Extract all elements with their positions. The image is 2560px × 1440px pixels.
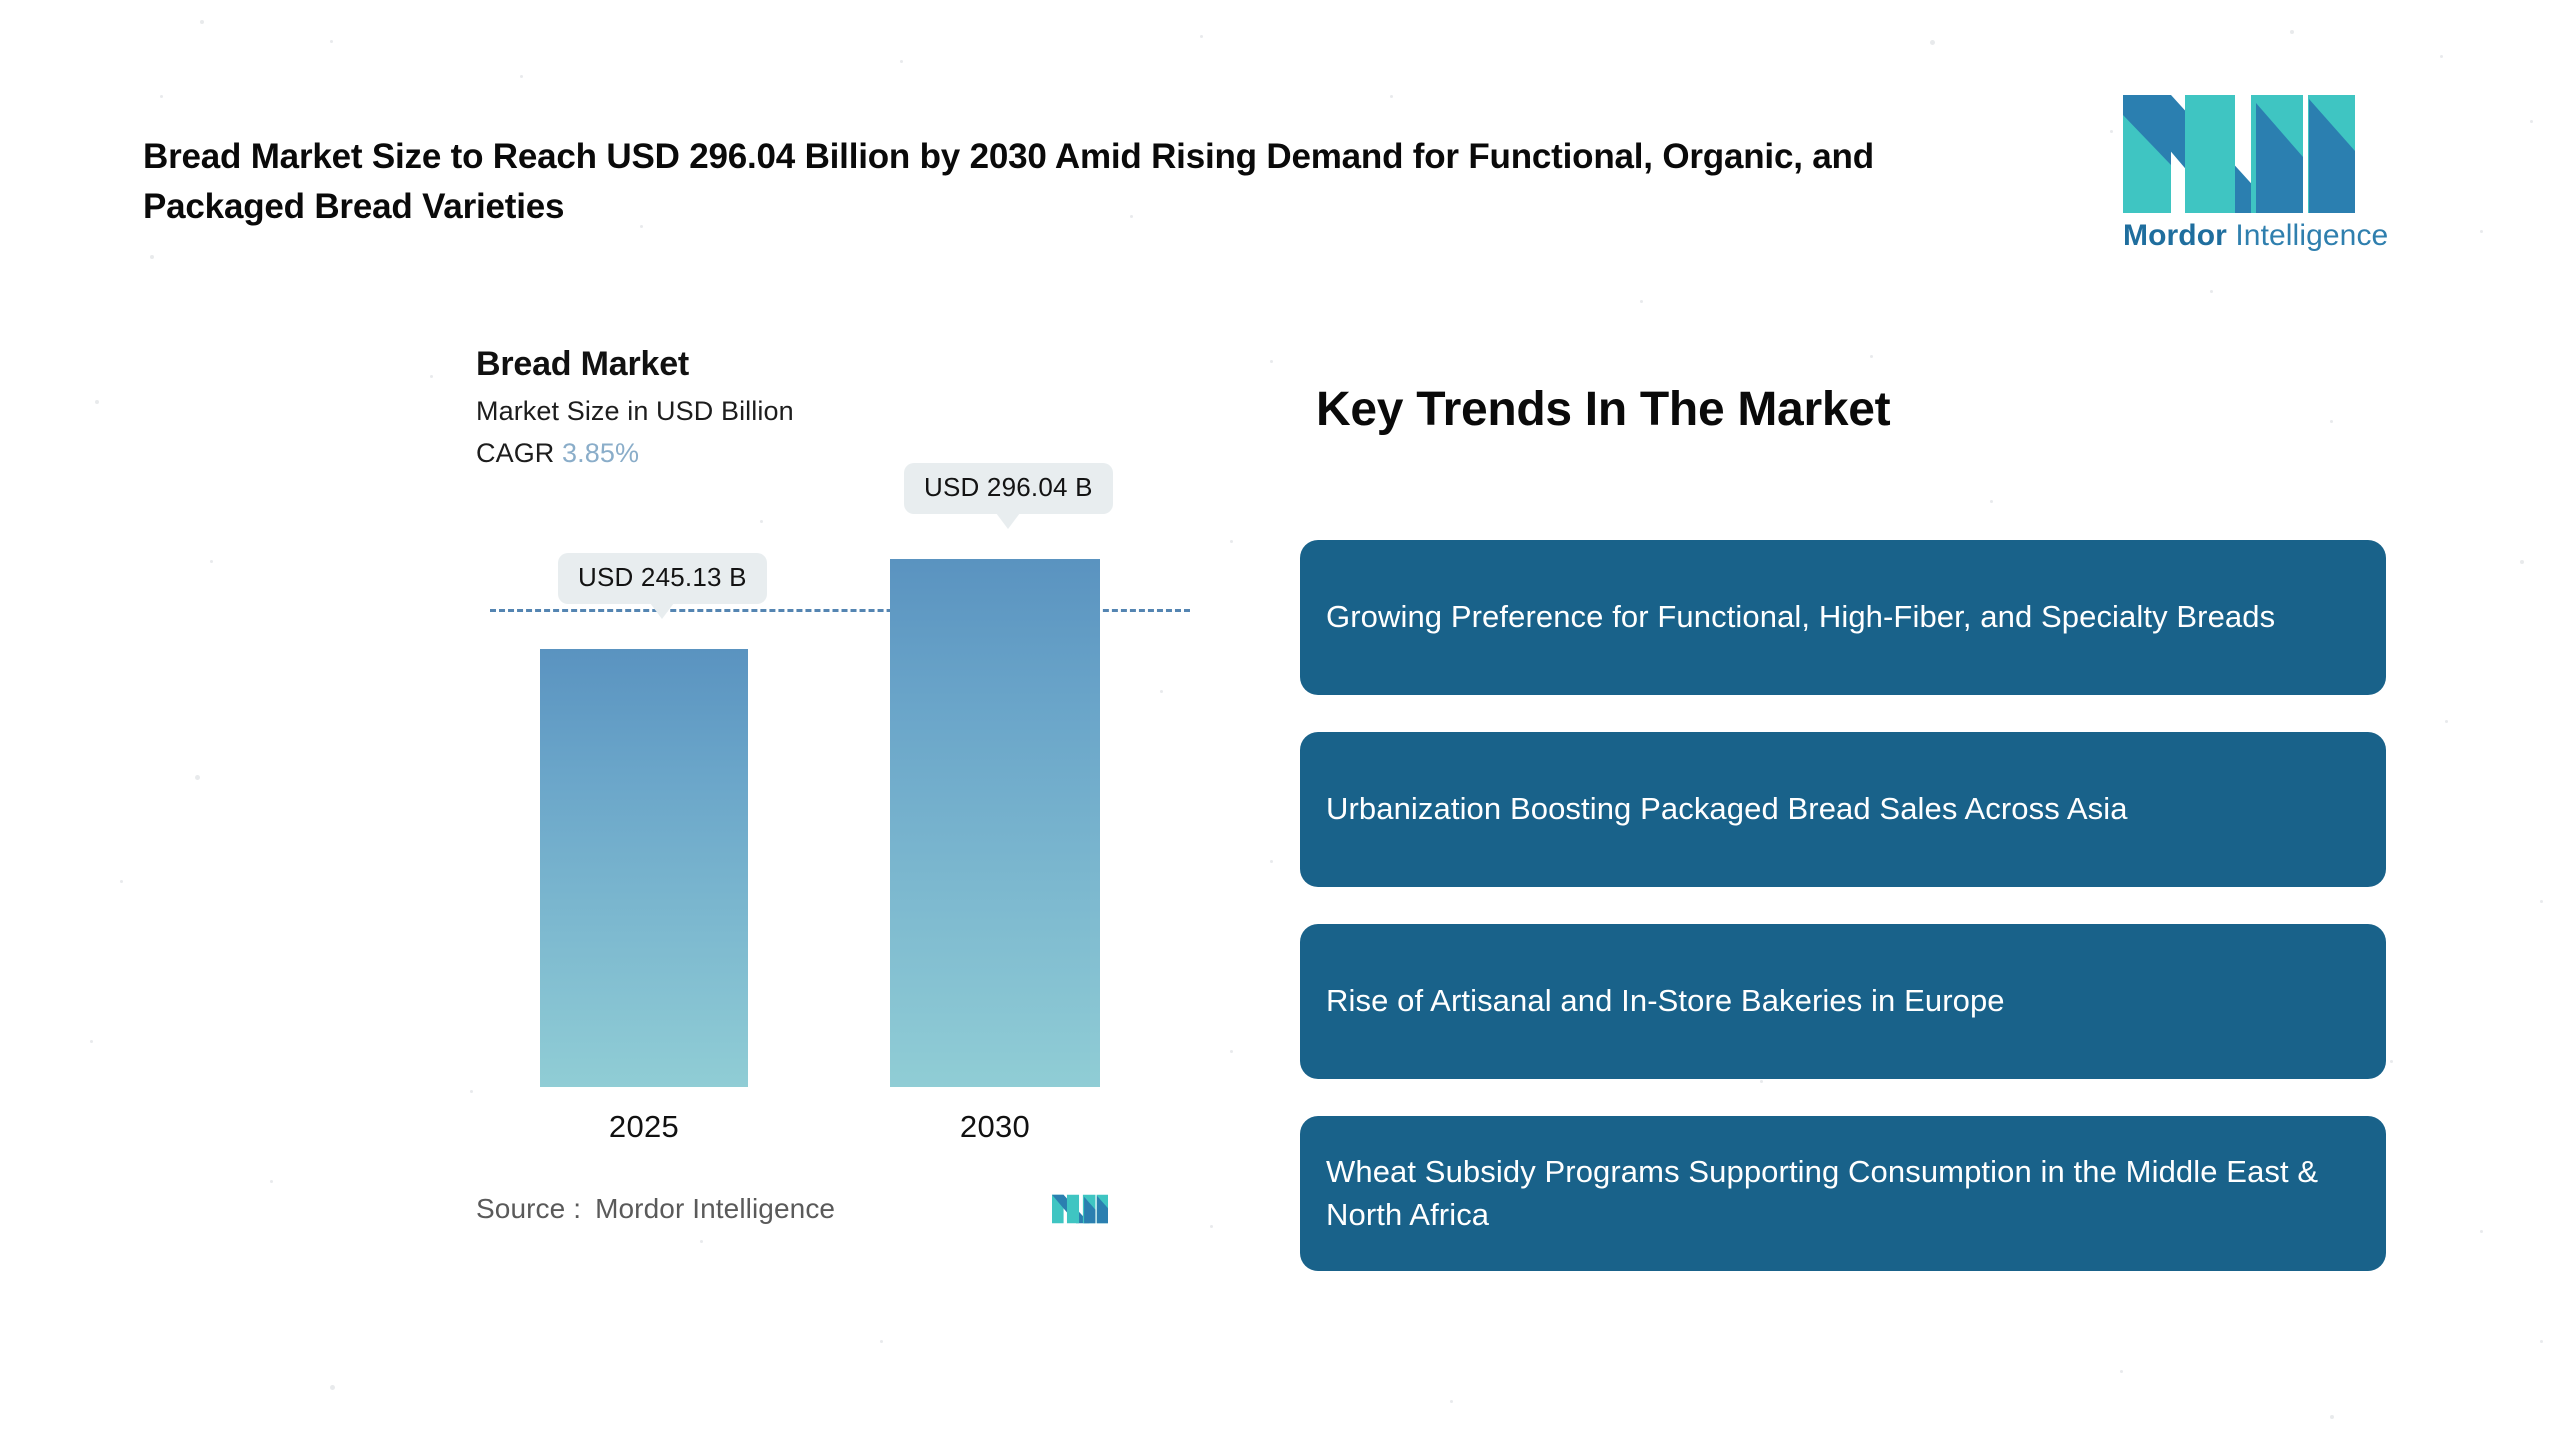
- chart-title: Bread Market: [476, 345, 1256, 384]
- trend-card-3-text: Rise of Artisanal and In-Store Bakeries …: [1326, 980, 2005, 1023]
- trend-card-4[interactable]: Wheat Subsidy Programs Supporting Consum…: [1300, 1116, 2386, 1271]
- key-trends-heading: Key Trends In The Market: [1316, 382, 1890, 437]
- cagr-value: 3.85%: [562, 438, 639, 468]
- data-label-2025: USD 245.13 B: [558, 553, 767, 604]
- x-tick-2025: 2025: [540, 1109, 748, 1145]
- bar-chart-plot: USD 245.13 B USD 296.04 B 2025 2030 Sour…: [476, 497, 1256, 1197]
- bar-2025: [540, 649, 748, 1087]
- chart-source-row: Source : Mordor Intelligence: [476, 1193, 1176, 1225]
- trend-card-2-text: Urbanization Boosting Packaged Bread Sal…: [1326, 788, 2128, 831]
- data-label-2030: USD 296.04 B: [904, 463, 1113, 514]
- chart-cagr: CAGR 3.85%: [476, 438, 1256, 469]
- source-label: Source :: [476, 1193, 581, 1225]
- chart-subtitle: Market Size in USD Billion: [476, 396, 1256, 427]
- trend-card-1[interactable]: Growing Preference for Functional, High-…: [1300, 540, 2386, 695]
- mordor-intelligence-mark-icon: [1052, 1193, 1108, 1225]
- key-trends-list: Growing Preference for Functional, High-…: [1300, 540, 2386, 1308]
- brand-logo: Mordor Intelligence: [2123, 95, 2388, 253]
- source-value: Mordor Intelligence: [595, 1193, 835, 1225]
- bar-2030: [890, 559, 1100, 1087]
- brand-name-bold: Mordor: [2123, 219, 2227, 252]
- brand-name-light: Intelligence: [2227, 219, 2388, 252]
- trend-card-4-text: Wheat Subsidy Programs Supporting Consum…: [1326, 1151, 2360, 1237]
- trend-card-1-text: Growing Preference for Functional, High-…: [1326, 596, 2275, 639]
- brand-name: Mordor Intelligence: [2123, 219, 2388, 253]
- cagr-label: CAGR: [476, 438, 554, 468]
- x-tick-2030: 2030: [890, 1109, 1100, 1145]
- chart-panel: Bread Market Market Size in USD Billion …: [476, 345, 1256, 1197]
- trend-card-2[interactable]: Urbanization Boosting Packaged Bread Sal…: [1300, 732, 2386, 887]
- trend-card-3[interactable]: Rise of Artisanal and In-Store Bakeries …: [1300, 924, 2386, 1079]
- page-title: Bread Market Size to Reach USD 296.04 Bi…: [143, 132, 1943, 231]
- mordor-intelligence-logo-icon: [2123, 95, 2355, 213]
